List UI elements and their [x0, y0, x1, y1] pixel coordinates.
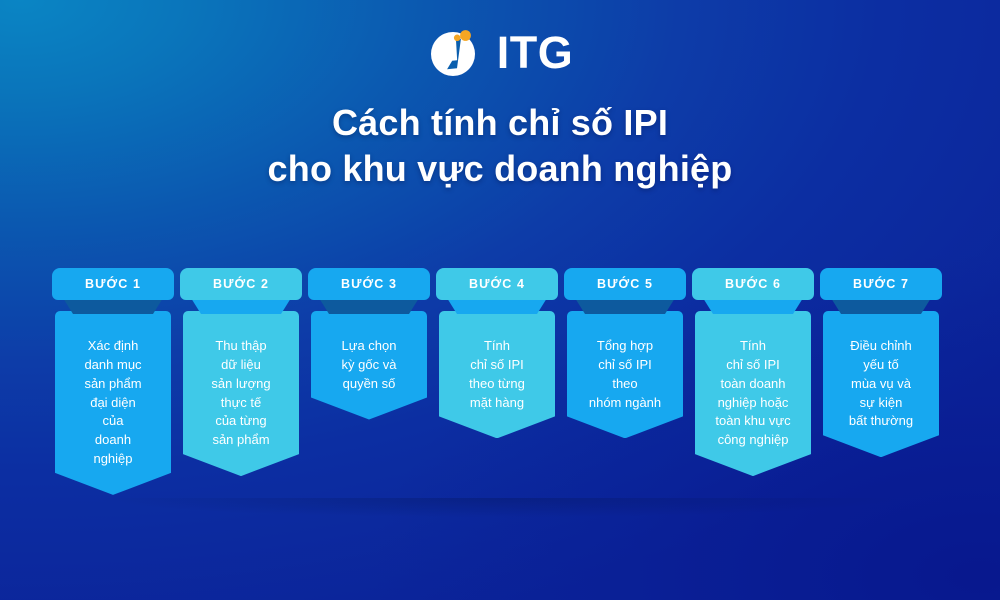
step-ribbon-fold: [319, 298, 419, 314]
step-body-line: theo: [575, 375, 675, 394]
step-tab-label: BƯỚC 7: [820, 268, 942, 300]
step-body-line: sản phẩm: [191, 431, 291, 450]
step-body-line: mặt hàng: [447, 394, 547, 413]
step-ribbon-fold: [831, 298, 931, 314]
step-body-line: công nghiệp: [703, 431, 803, 450]
step-body-line: sự kiện: [831, 394, 931, 413]
step-card[interactable]: BƯỚC 3Lựa chọnkỳ gốc vàquyền số: [308, 268, 430, 420]
step-body-line: Tính: [447, 337, 547, 356]
step-body-line: Thu thập: [191, 337, 291, 356]
step-body-line: quyền số: [319, 375, 419, 394]
infographic-canvas: ITG Cách tính chỉ số IPI cho khu vực doa…: [0, 0, 1000, 600]
step-body-line: mùa vụ và: [831, 375, 931, 394]
step-body-line: theo từng: [447, 375, 547, 394]
step-card[interactable]: BƯỚC 6Tínhchỉ số IPItoàn doanhnghiệp hoặ…: [692, 268, 814, 476]
step-tab-label: BƯỚC 2: [180, 268, 302, 300]
step-body-text: Tínhchỉ số IPItheo từngmặt hàng: [439, 311, 555, 438]
step-card[interactable]: BƯỚC 1Xác địnhdanh mụcsản phẩmđại diệncủ…: [52, 268, 174, 495]
step-body-line: thực tế: [191, 394, 291, 413]
step-body-line: toàn doanh: [703, 375, 803, 394]
step-body-text: Xác địnhdanh mụcsản phẩmđại diệncủadoanh…: [55, 311, 171, 495]
step-body-text: Lựa chọnkỳ gốc vàquyền số: [311, 311, 427, 420]
step-body-line: sản phẩm: [63, 375, 163, 394]
step-body-line: của: [63, 412, 163, 431]
step-body-text: Tínhchỉ số IPItoàn doanhnghiệp hoặctoàn …: [695, 311, 811, 476]
ground-shadow: [52, 498, 948, 524]
step-card[interactable]: BƯỚC 7Điều chỉnhyếu tốmùa vụ vàsự kiệnbấ…: [820, 268, 942, 457]
step-body-line: kỳ gốc và: [319, 356, 419, 375]
step-body-line: doanh: [63, 431, 163, 450]
step-body-line: toàn khu vực: [703, 412, 803, 431]
step-body-line: sản lượng: [191, 375, 291, 394]
brand-name: ITG: [497, 30, 574, 75]
page-title: Cách tính chỉ số IPI cho khu vực doanh n…: [0, 100, 1000, 192]
step-card[interactable]: BƯỚC 5Tổng hợpchỉ số IPItheonhóm ngành: [564, 268, 686, 438]
step-body-line: Điều chỉnh: [831, 337, 931, 356]
step-body-line: chỉ số IPI: [447, 356, 547, 375]
step-tab-label: BƯỚC 6: [692, 268, 814, 300]
step-ribbon-fold: [63, 298, 163, 314]
step-ribbon-fold: [447, 298, 547, 314]
step-tab-label: BƯỚC 4: [436, 268, 558, 300]
step-body-line: dữ liệu: [191, 356, 291, 375]
step-body-line: yếu tố: [831, 356, 931, 375]
step-body-text: Tổng hợpchỉ số IPItheonhóm ngành: [567, 311, 683, 438]
step-body-line: chỉ số IPI: [703, 356, 803, 375]
step-card[interactable]: BƯỚC 2Thu thậpdữ liệusản lượngthực tếcủa…: [180, 268, 302, 476]
brand-lockup: ITG: [0, 24, 1000, 80]
step-body-line: Tính: [703, 337, 803, 356]
step-body-line: nghiệp: [63, 450, 163, 469]
step-body-line: nhóm ngành: [575, 394, 675, 413]
step-body-line: Lựa chọn: [319, 337, 419, 356]
step-body-line: nghiệp hoặc: [703, 394, 803, 413]
step-card[interactable]: BƯỚC 4Tínhchỉ số IPItheo từngmặt hàng: [436, 268, 558, 438]
step-ribbon-fold: [191, 298, 291, 314]
step-body-line: bất thường: [831, 412, 931, 431]
itg-logo-icon: [427, 24, 483, 80]
step-body-line: danh mục: [63, 356, 163, 375]
step-body-line: Tổng hợp: [575, 337, 675, 356]
step-ribbon-fold: [703, 298, 803, 314]
page-title-line1: Cách tính chỉ số IPI: [332, 102, 668, 143]
step-tab-label: BƯỚC 3: [308, 268, 430, 300]
step-body-line: của từng: [191, 412, 291, 431]
page-title-line2: cho khu vực doanh nghiệp: [0, 146, 1000, 192]
steps-row: BƯỚC 1Xác địnhdanh mụcsản phẩmđại diệncủ…: [52, 268, 948, 495]
step-body-line: Xác định: [63, 337, 163, 356]
step-body-line: chỉ số IPI: [575, 356, 675, 375]
step-body-line: đại diện: [63, 394, 163, 413]
step-ribbon-fold: [575, 298, 675, 314]
step-body-text: Thu thậpdữ liệusản lượngthực tếcủa từngs…: [183, 311, 299, 476]
step-tab-label: BƯỚC 1: [52, 268, 174, 300]
step-tab-label: BƯỚC 5: [564, 268, 686, 300]
step-body-text: Điều chỉnhyếu tốmùa vụ vàsự kiệnbất thườ…: [823, 311, 939, 457]
